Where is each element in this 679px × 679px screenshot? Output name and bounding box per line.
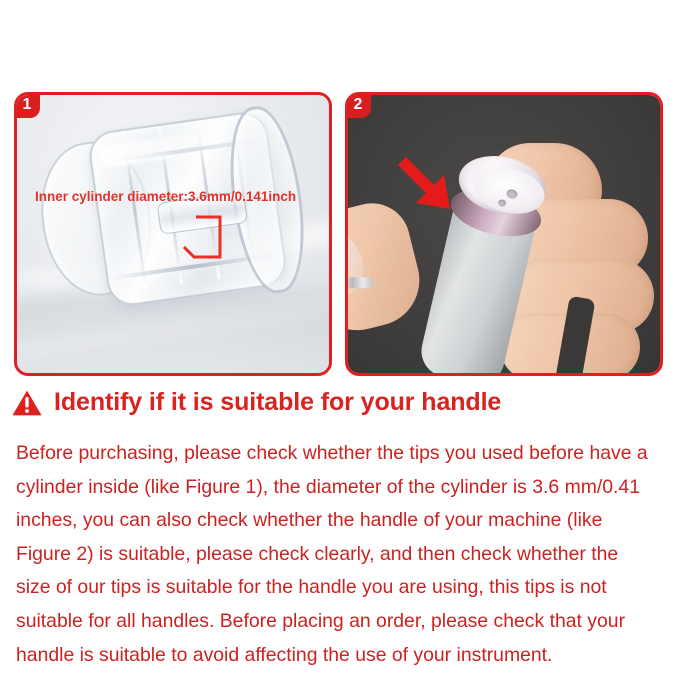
figure-badge-2: 2 (345, 92, 371, 118)
body-paragraph: Before purchasing, please check whether … (16, 437, 650, 672)
figure-badge-1: 1 (14, 92, 40, 118)
thumb-nail (348, 223, 373, 304)
figure-panel-2: 2 (345, 92, 663, 376)
device-nozzle-hole (497, 199, 506, 208)
bracket-pointer-icon (180, 213, 224, 261)
section-heading: Identify if it is suitable for your hand… (10, 386, 501, 418)
figure-panel-1: Inner cylinder diameter:3.6mm/0.141inch … (14, 92, 332, 376)
device-nozzle-hole (506, 188, 519, 199)
heading-label: Identify if it is suitable for your hand… (54, 388, 501, 417)
transparent-tip-object (26, 99, 320, 340)
figure-2-photo (348, 95, 660, 373)
figure-1-photo: Inner cylinder diameter:3.6mm/0.141inch (17, 95, 329, 373)
inner-cylinder-caption: Inner cylinder diameter:3.6mm/0.141inch (35, 189, 296, 204)
warning-triangle-icon (10, 386, 44, 418)
red-arrow-icon (394, 147, 470, 223)
figures-row: Inner cylinder diameter:3.6mm/0.141inch … (0, 0, 679, 385)
nail-gems (348, 277, 373, 288)
